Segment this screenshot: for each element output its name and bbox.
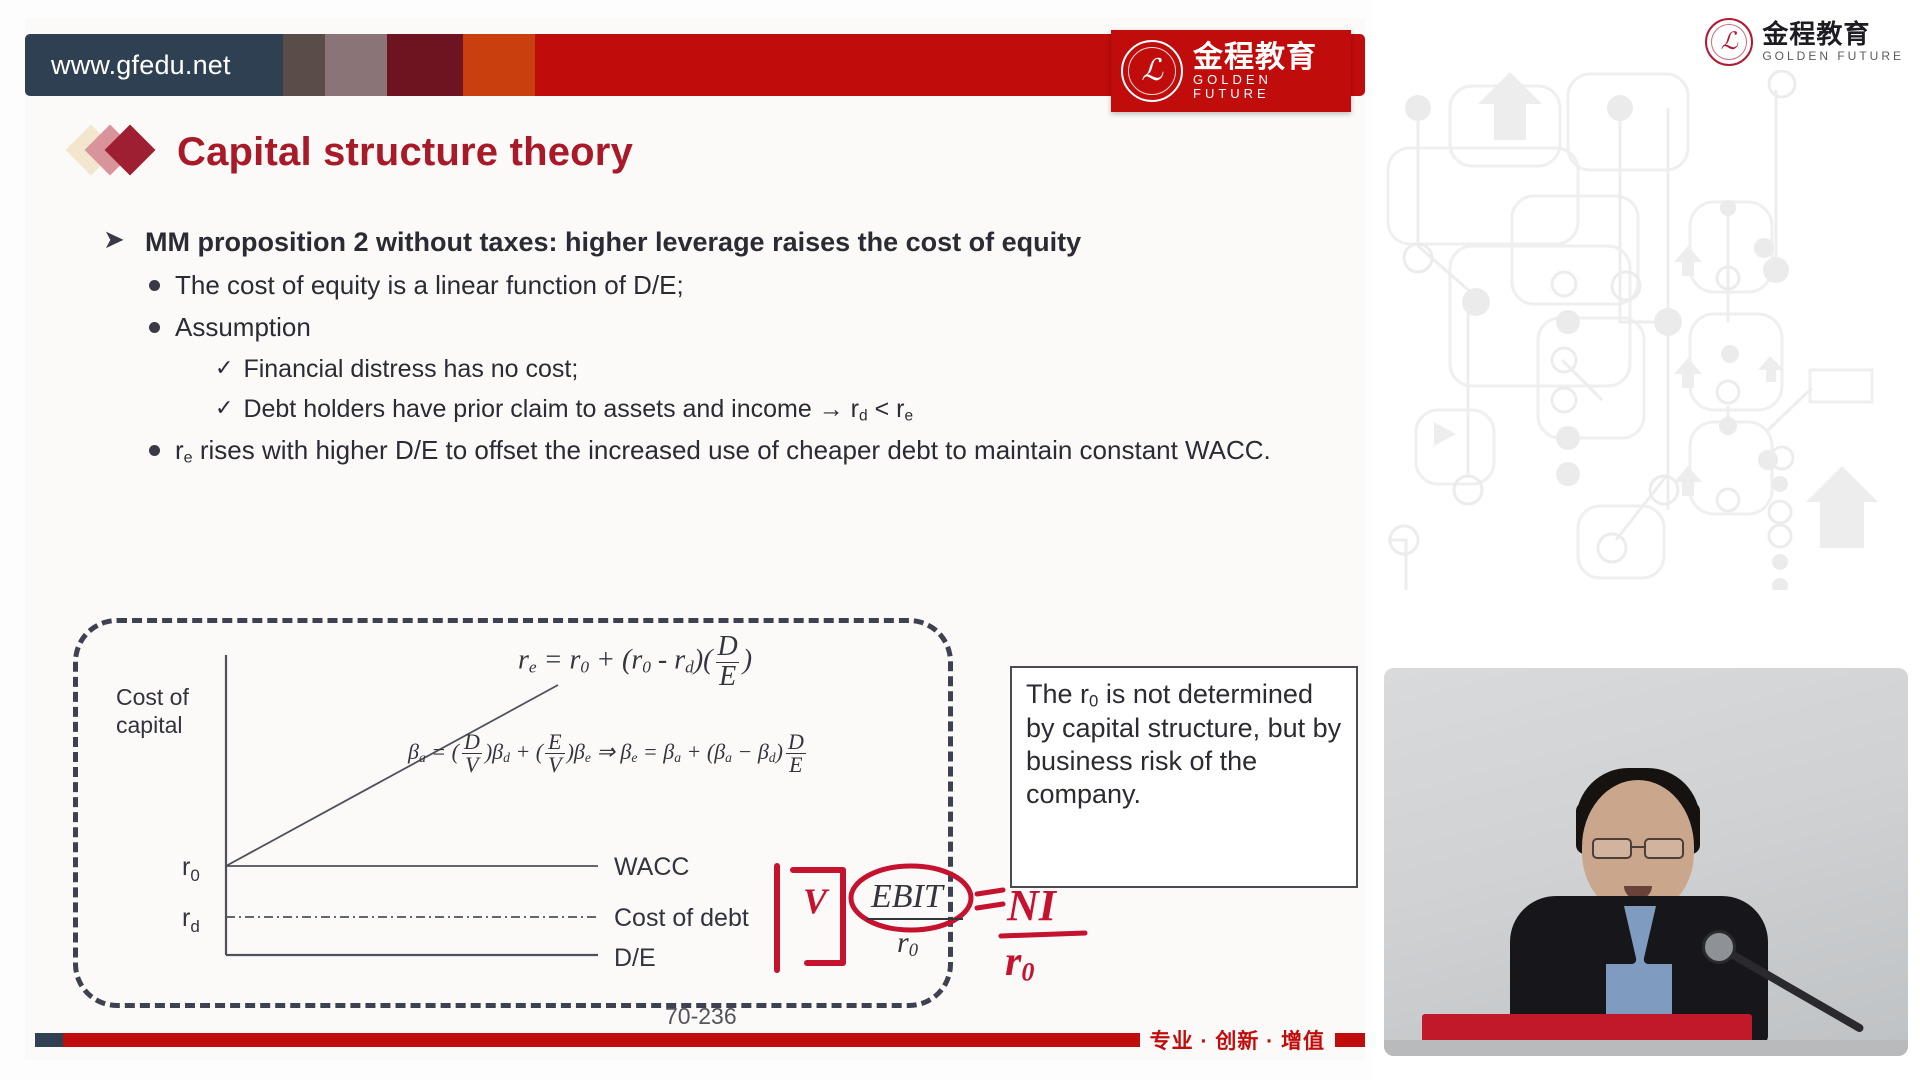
bullet-text-part: Debt holders have prior claim to assets …: [243, 395, 859, 423]
formula-sub: d: [685, 657, 694, 676]
formula-part: r: [518, 644, 529, 675]
bullet-text-part: < r: [868, 395, 905, 423]
fraction-denominator: V: [462, 753, 481, 776]
fraction-denominator: V: [545, 753, 564, 776]
fraction-denominator: E: [786, 753, 805, 776]
bullet-level2-text: The cost of equity is a linear function …: [175, 267, 684, 305]
up-arrow-shape: [1478, 72, 1542, 140]
seal-monogram: ℒ: [1721, 30, 1738, 54]
formula-sub: d: [769, 750, 776, 765]
brand-name-cn: 金程教育: [1762, 21, 1904, 48]
formula-part: ⇒: [591, 739, 620, 764]
series-label-wacc: WACC: [614, 853, 689, 881]
formula-part: + (: [510, 739, 543, 764]
formula-sub: a: [674, 750, 681, 765]
formula-part: - r: [651, 644, 685, 675]
right-panel: ℒ 金程教育 GOLDEN FUTURE: [1372, 0, 1920, 1080]
arrow-bullet-icon: ➤: [103, 223, 129, 261]
bullet-level2: Assumption: [149, 309, 1283, 347]
formula-part: β: [408, 739, 419, 764]
page-number: 70-236: [665, 1003, 737, 1030]
seal-monogram: ℒ: [1141, 56, 1163, 86]
golden-future-seal-icon: ℒ: [1121, 40, 1183, 102]
slide-body: ➤ MM proposition 2 without taxes: higher…: [103, 223, 1283, 474]
lecture-video-screen: www.gfedu.net ℒ 金程教育 GOLDEN FUTURE: [0, 0, 1920, 1080]
bullet-level1-text: MM proposition 2 without taxes: higher l…: [145, 223, 1081, 261]
webcam-video-feed[interactable]: [1384, 668, 1908, 1056]
dot-bullet-icon: [149, 280, 160, 291]
formula-sub: 0: [642, 657, 651, 676]
bullet-level2: The cost of equity is a linear function …: [149, 267, 1283, 305]
y-axis-label-line2: capital: [116, 712, 182, 738]
y-axis-label-line1: Cost of: [116, 684, 189, 710]
presentation-slide: www.gfedu.net ℒ 金程教育 GOLDEN FUTURE: [25, 18, 1365, 1060]
dot-bullet-icon: [149, 322, 160, 333]
fraction-numerator: D: [715, 633, 741, 662]
fraction-e-over-v: EV: [545, 731, 564, 777]
bullet-level3-text: Financial distress has no cost;: [243, 351, 578, 389]
formula-cost-of-equity: re = r0 + (r0 - rd)(DE): [518, 633, 752, 691]
formula-sub: a: [419, 750, 426, 765]
check-bullet-icon: ✓: [215, 391, 233, 424]
footer-slogan: 专业 · 创新 · 增值: [1140, 1025, 1335, 1055]
eyeglasses-bridge: [1632, 846, 1644, 848]
callout-text-pre: The r: [1026, 679, 1089, 709]
formula-part: = r: [537, 644, 581, 675]
header-color-block-2: [283, 34, 325, 96]
formula-part: + (r: [589, 644, 642, 675]
formula-part: ): [776, 739, 783, 764]
brand-logo-text: 金程教育 GOLDEN FUTURE: [1193, 42, 1337, 101]
page-title: Capital structure theory: [177, 130, 633, 175]
formula-part: )β: [485, 739, 503, 764]
slide-title-row: Capital structure theory: [73, 126, 633, 178]
check-bullet-icon: ✓: [215, 351, 233, 384]
callout-subscript: 0: [1089, 692, 1098, 711]
eyeglasses-left-lens: [1592, 838, 1632, 859]
slide-footer-bar: 专业 · 创新 · 增值: [35, 1033, 1365, 1047]
fraction-d-over-e: DE: [785, 731, 807, 777]
subscript-d: d: [859, 407, 868, 424]
bullet-level3: ✓ Debt holders have prior claim to asset…: [215, 391, 1283, 429]
bullet-level3-text: Debt holders have prior claim to assets …: [243, 391, 913, 429]
header-color-block-3: [325, 34, 387, 96]
bullet-level2: re rises with higher D/E to offset the i…: [149, 432, 1283, 470]
formula-part: − β: [732, 739, 769, 764]
formula-part: )β: [567, 739, 585, 764]
brand-name-en: GOLDEN FUTURE: [1193, 73, 1337, 100]
brand-name-en: GOLDEN FUTURE: [1762, 49, 1904, 63]
bullet-level2-text: re rises with higher D/E to offset the i…: [175, 432, 1271, 470]
formula-part: β: [620, 739, 631, 764]
series-label-cost-of-debt: Cost of debt: [614, 904, 749, 932]
bullet-level1: ➤ MM proposition 2 without taxes: higher…: [103, 223, 1283, 261]
dot-bullet-icon: [149, 445, 160, 456]
bullet-text-part: rises with higher D/E to offset the incr…: [193, 435, 1271, 465]
cost-of-capital-diagram: Cost of capital r0 rd WACC Cost of debt …: [73, 618, 953, 1008]
ink-rr0-sub: 0: [1021, 958, 1034, 987]
fraction-denominator: E: [716, 662, 739, 692]
brand-name-cn: 金程教育: [1193, 42, 1337, 74]
formula-part: = (: [426, 739, 459, 764]
formula-part: + (β: [681, 739, 725, 764]
formula-beta-relation: βa = (DV)βd + (EV)βe ⇒ βe = βa + (βa − β…: [408, 731, 809, 777]
website-url-label: www.gfedu.net: [25, 34, 283, 96]
formula-part: = β: [637, 739, 674, 764]
corner-brand-logo: ℒ 金程教育 GOLDEN FUTURE: [1705, 18, 1904, 66]
corner-logo-text: 金程教育 GOLDEN FUTURE: [1762, 21, 1904, 62]
x-axis-label-de: D/E: [614, 944, 656, 972]
ink-label-r0: r0: [1005, 938, 1034, 988]
header-color-block-5: [463, 34, 535, 96]
callout-textbox: The r0 is not determined by capital stru…: [1010, 666, 1358, 888]
fraction-numerator: D: [785, 731, 807, 753]
up-arrow-shape-2: [1806, 466, 1878, 548]
bullet-text-part: r: [175, 435, 184, 465]
header-color-block-4: [387, 34, 463, 96]
y-tick-r0: r0: [182, 853, 200, 885]
fraction-numerator: E: [545, 731, 564, 753]
formula-sub: d: [503, 750, 510, 765]
y-tick-rd: rd: [182, 904, 200, 936]
subscript-e: e: [904, 407, 913, 424]
fraction-d-over-e: DE: [715, 633, 741, 691]
footer-accent-left: [35, 1033, 63, 1047]
formula-sub: 0: [580, 657, 589, 676]
ink-fraction-bar: [1001, 933, 1085, 936]
golden-future-seal-icon: ℒ: [1705, 18, 1753, 66]
footer-accent-right: [1335, 1033, 1365, 1047]
bullet-level3: ✓ Financial distress has no cost;: [215, 351, 1283, 389]
formula-part: )(: [694, 644, 713, 675]
desk-surface: [1384, 1040, 1908, 1056]
ink-equals: [977, 890, 1003, 908]
diamond-bullet-icon: [73, 126, 159, 178]
formula-sub: e: [529, 657, 537, 676]
fraction-numerator: D: [461, 731, 483, 753]
fraction-d-over-v: DV: [461, 731, 483, 777]
ink-rr0-base: r: [1005, 939, 1021, 985]
bullet-level2-text: Assumption: [175, 309, 311, 347]
formula-part: ): [743, 644, 752, 675]
circuit-background-pattern: [1372, 70, 1920, 590]
eyeglasses-right-lens: [1644, 838, 1684, 859]
formula-sub: a: [725, 750, 732, 765]
brand-logo: ℒ 金程教育 GOLDEN FUTURE: [1111, 30, 1351, 112]
footer-red-bar: [63, 1033, 1140, 1047]
subscript-e: e: [184, 449, 193, 467]
microphone-head: [1702, 930, 1736, 964]
